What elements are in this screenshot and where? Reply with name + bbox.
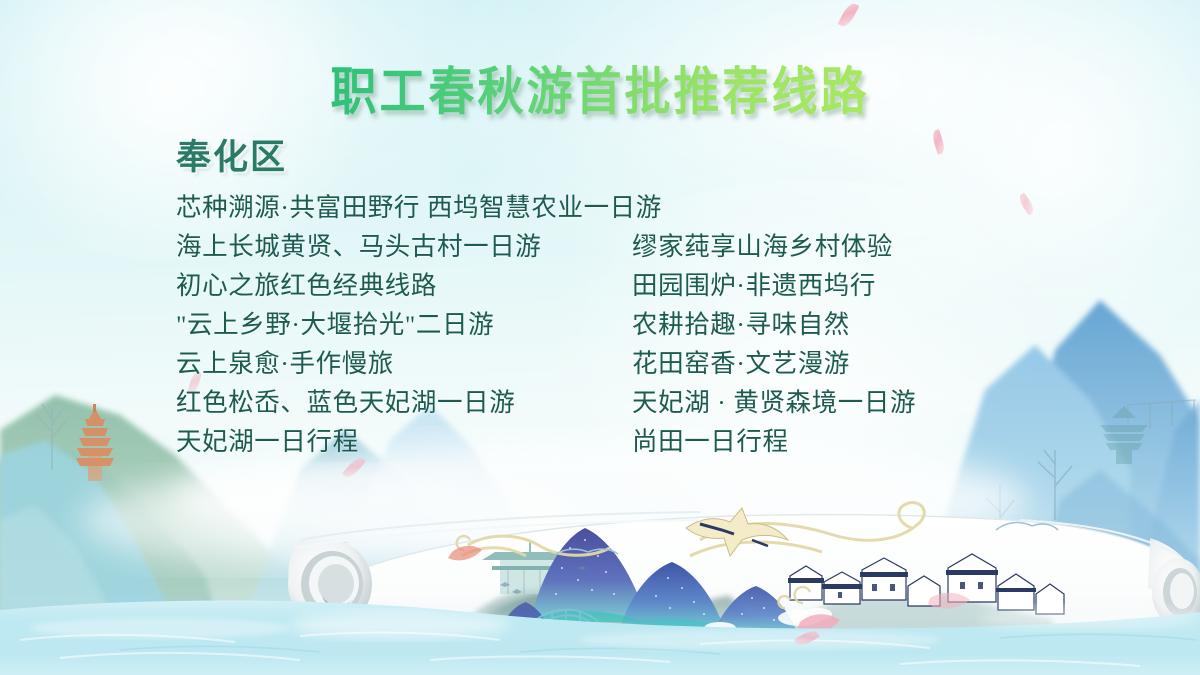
- poster-title-container: 职工春秋游首批推荐线路: [0, 55, 1200, 121]
- route-item-right[interactable]: 农耕拾趣·寻味自然: [632, 310, 850, 339]
- region-heading: 奉化区: [176, 129, 287, 180]
- route-item-left[interactable]: 红色松岙、蓝色天妃湖一日游: [176, 388, 515, 417]
- route-row: 海上长城黄贤、马头古村一日游 缪家莼享山海乡村体验: [176, 227, 1096, 266]
- route-list: 芯种溯源·共富田野行 西坞智慧农业一日游 海上长城黄贤、马头古村一日游 缪家莼享…: [176, 188, 1096, 461]
- route-item-left[interactable]: 芯种溯源·共富田野行 西坞智慧农业一日游: [176, 193, 662, 222]
- route-row: 云上泉愈·手作慢旅 花田窑香·文艺漫游: [176, 344, 1096, 383]
- route-item-left[interactable]: 初心之旅红色经典线路: [176, 271, 437, 300]
- route-row: 天妃湖一日行程 尚田一日行程: [176, 422, 1096, 461]
- route-item-left[interactable]: "云上乡野·大堰拾光"二日游: [176, 310, 494, 339]
- route-row: 初心之旅红色经典线路 田园围炉·非遗西坞行: [176, 266, 1096, 305]
- route-item-right[interactable]: 尚田一日行程: [632, 427, 789, 456]
- route-item-right[interactable]: 天妃湖 · 黄贤森境一日游: [632, 388, 916, 417]
- route-row: 红色松岙、蓝色天妃湖一日游 天妃湖 · 黄贤森境一日游: [176, 383, 1096, 422]
- route-item-right[interactable]: 缪家莼享山海乡村体验: [632, 232, 893, 261]
- route-item-right[interactable]: 田园围炉·非遗西坞行: [632, 271, 876, 300]
- route-item-left[interactable]: 云上泉愈·手作慢旅: [176, 349, 394, 378]
- poster-canvas: 职工春秋游首批推荐线路 奉化区 芯种溯源·共富田野行 西坞智慧农业一日游 海上长…: [0, 0, 1200, 675]
- poster-title: 职工春秋游首批推荐线路: [331, 51, 870, 125]
- route-item-left[interactable]: 海上长城黄贤、马头古村一日游: [176, 232, 541, 261]
- route-item-right[interactable]: 花田窑香·文艺漫游: [632, 349, 850, 378]
- route-row: "云上乡野·大堰拾光"二日游 农耕拾趣·寻味自然: [176, 305, 1096, 344]
- route-row: 芯种溯源·共富田野行 西坞智慧农业一日游: [176, 188, 1096, 227]
- route-item-left[interactable]: 天妃湖一日行程: [176, 427, 359, 456]
